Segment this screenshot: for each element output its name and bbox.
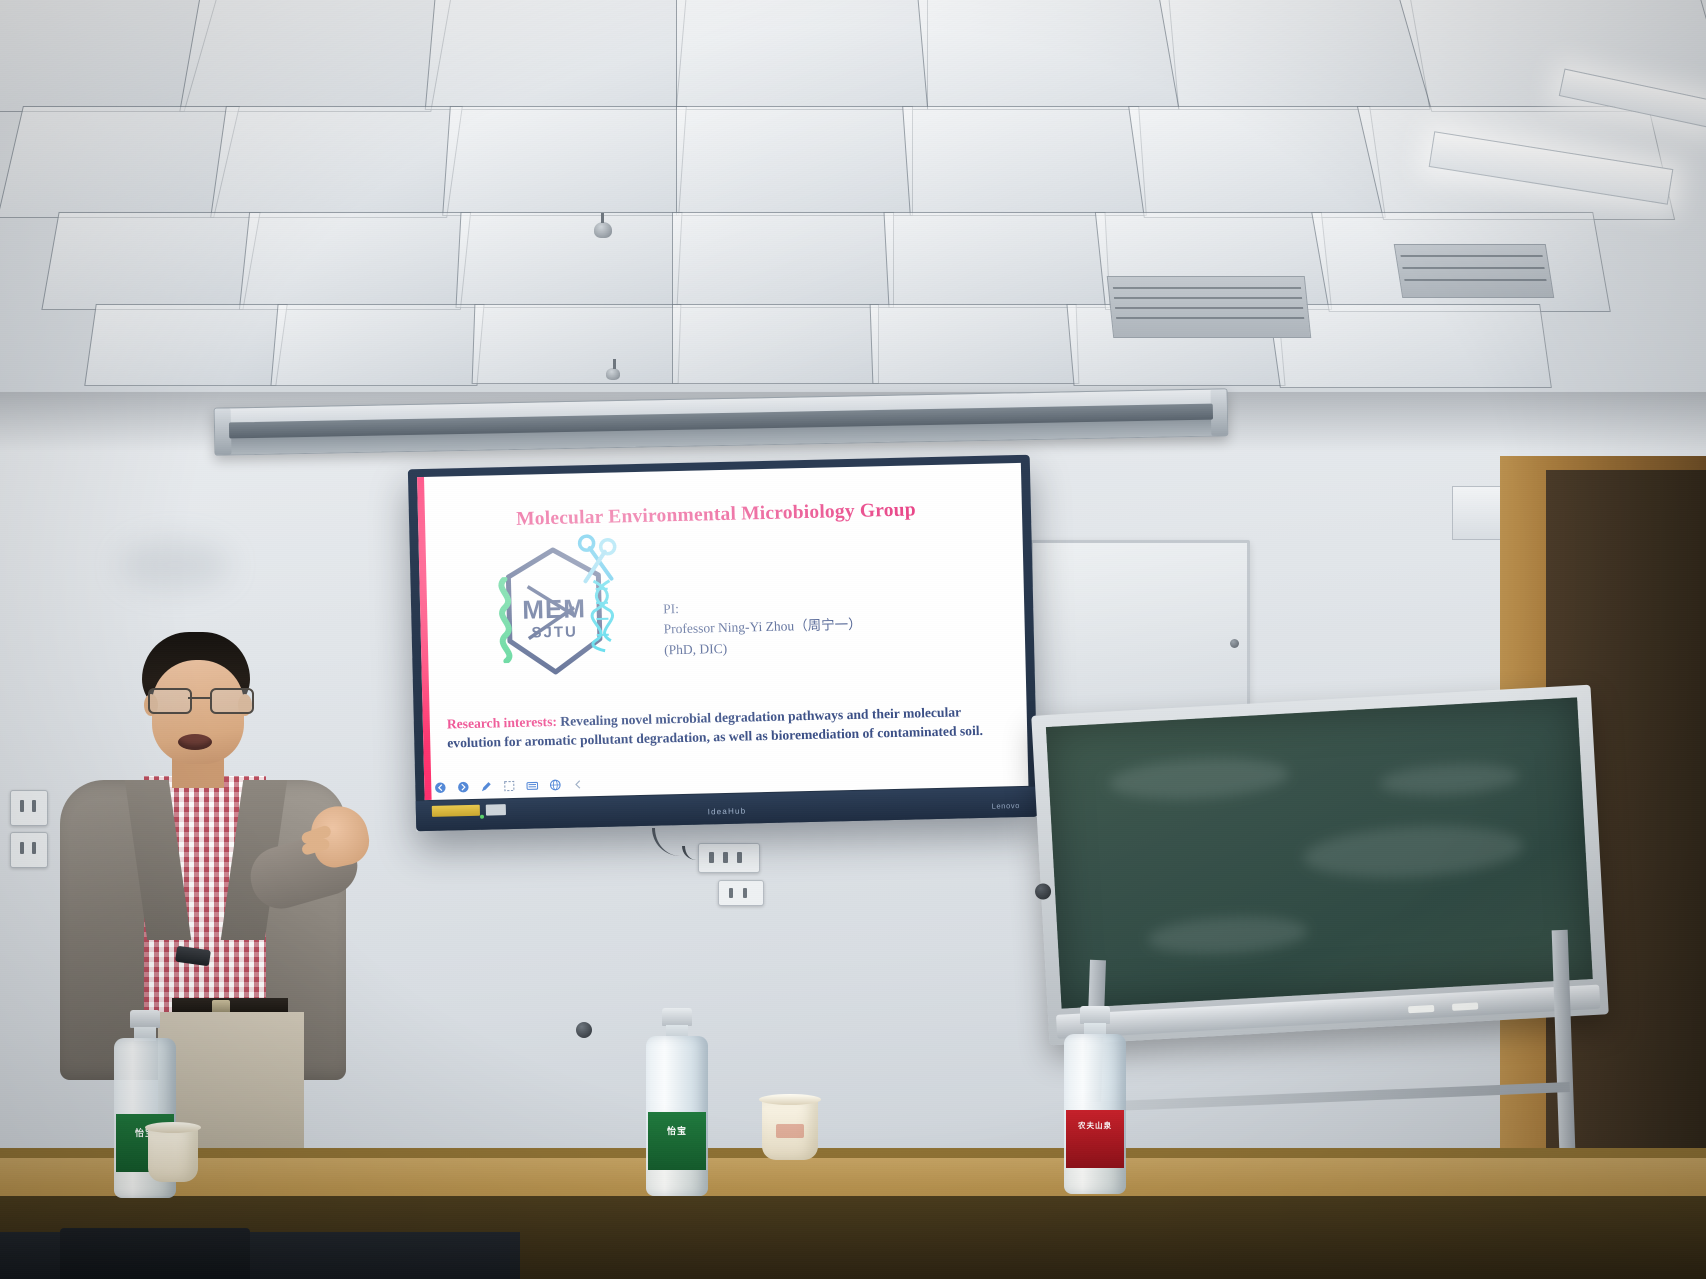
bottle-label-right: 农夫山泉 xyxy=(1066,1110,1124,1168)
display-vendor-label: Lenovo xyxy=(992,801,1020,811)
research-interests: Research interests: Revealing novel micr… xyxy=(447,701,1010,753)
display-toolbar[interactable] xyxy=(434,778,584,794)
logo-sjtu-text: SJTU xyxy=(487,622,623,642)
chalk-stick-2[interactable] xyxy=(1452,1002,1478,1010)
wall-outlet-left-2[interactable] xyxy=(10,832,48,868)
presentation-slide: Molecular Environmental Microbiology Gro… xyxy=(417,463,1028,800)
wall-access-panel[interactable] xyxy=(1030,540,1250,718)
chalk-stick[interactable] xyxy=(1408,1005,1434,1013)
mem-sjtu-logo: MEM SJTU xyxy=(485,538,624,687)
smoke-detector-icon xyxy=(594,222,612,238)
back-icon[interactable] xyxy=(434,782,446,794)
bezel-sticker-secondary xyxy=(486,804,506,815)
research-interests-label: Research interests: xyxy=(447,714,557,732)
pi-block: PI: Professor Ning-Yi Zhou（周宁一） (PhD, DI… xyxy=(663,595,862,660)
cup-logo xyxy=(776,1124,804,1138)
classroom-scene: Molecular Environmental Microbiology Gro… xyxy=(0,0,1706,1279)
bezel-sticker xyxy=(432,805,480,817)
browser-icon[interactable] xyxy=(549,779,561,791)
laptop[interactable] xyxy=(60,1228,250,1279)
paper-cup[interactable] xyxy=(762,1098,818,1160)
eyeglasses-icon xyxy=(148,688,250,710)
pi-credentials: (PhD, DIC) xyxy=(664,635,862,660)
scissors-icon xyxy=(576,532,619,587)
ceiling xyxy=(0,0,1706,400)
display-brand-label: IdeaHub xyxy=(708,806,747,816)
keyboard-icon[interactable] xyxy=(526,779,538,791)
collapse-icon[interactable] xyxy=(572,778,584,790)
microphone-icon[interactable] xyxy=(576,1022,592,1038)
smoke-detector-icon-2 xyxy=(606,368,620,380)
mouth xyxy=(178,734,212,750)
forward-icon[interactable] xyxy=(457,781,469,793)
slide-title: Molecular Environmental Microbiology Gro… xyxy=(496,499,936,531)
ceiling-vent xyxy=(1107,276,1312,338)
bottle-label-center: 怡宝 xyxy=(648,1112,706,1170)
desk-edge xyxy=(0,1148,1706,1158)
ceiling-vent-secondary xyxy=(1394,244,1555,298)
chalkboard-surface[interactable] xyxy=(1046,697,1593,1008)
power-led-icon xyxy=(480,815,484,819)
wall-outlet-left[interactable] xyxy=(10,790,48,826)
display-panel[interactable]: Molecular Environmental Microbiology Gro… xyxy=(417,463,1028,800)
chalkboard[interactable] xyxy=(1031,685,1609,1046)
logo-mem-text: MEM xyxy=(486,592,623,626)
select-icon[interactable] xyxy=(503,780,515,792)
pen-icon[interactable] xyxy=(480,780,492,792)
interactive-flat-panel-display[interactable]: Molecular Environmental Microbiology Gro… xyxy=(408,455,1038,832)
presenter xyxy=(60,630,390,1190)
panel-lock-icon xyxy=(1230,639,1239,648)
wall-outlet-center-2[interactable] xyxy=(718,880,764,906)
paper-cup-2[interactable] xyxy=(148,1126,198,1182)
